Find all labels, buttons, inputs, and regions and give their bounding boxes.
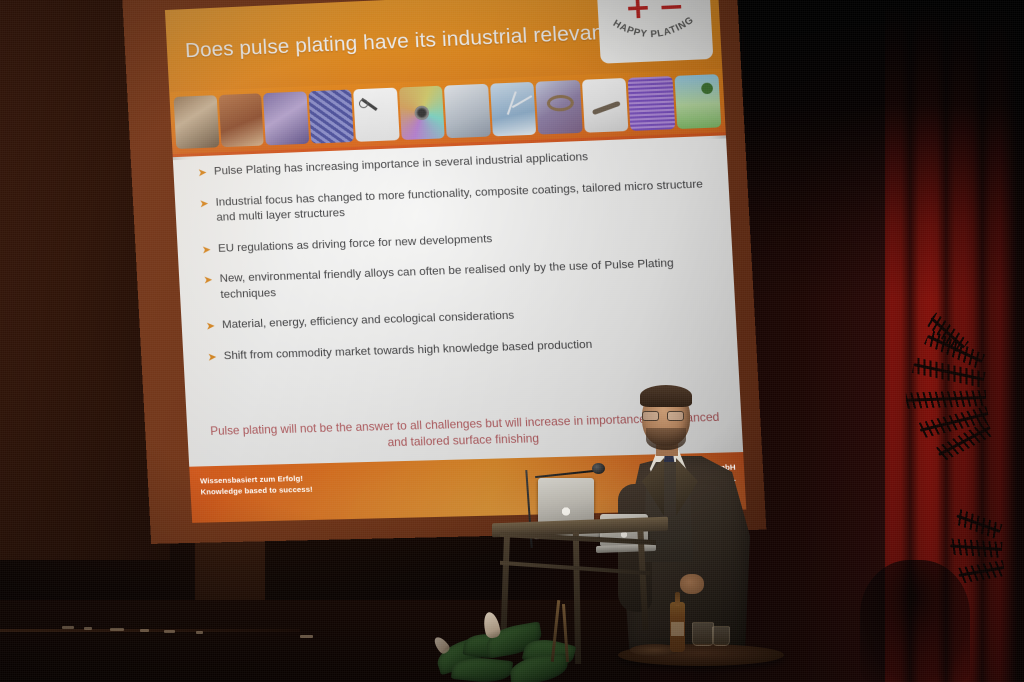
microphone-head-icon <box>592 463 605 474</box>
footer-slogan-en: Knowledge based to success! <box>200 484 313 498</box>
bottle-label <box>671 622 684 636</box>
electronics-board-thumb <box>263 91 309 145</box>
speaker-beard <box>646 428 686 450</box>
bullet-list: ➤ Pulse Plating has increasing importanc… <box>197 145 721 380</box>
bullet-item: ➤ Material, energy, efficiency and ecolo… <box>205 302 719 334</box>
auditorium-scene: Does pulse plating have its industrial r… <box>0 0 1024 682</box>
arrow-bullet-icon: ➤ <box>205 318 215 334</box>
industrial-machinery-thumb <box>174 95 219 149</box>
microchip-wafer-thumb <box>628 76 675 131</box>
svg-text:HAPPY PLATING: HAPPY PLATING <box>611 13 696 41</box>
bottle-neck <box>675 592 680 606</box>
optical-disc-thumb <box>398 86 444 140</box>
bullet-item: ➤ EU regulations as driving force for ne… <box>201 224 714 258</box>
side-table <box>618 598 784 682</box>
bullet-item: ➤ Industrial focus has changed to more f… <box>199 176 713 226</box>
stage-edge <box>0 629 300 632</box>
logo-wordmark-arc: HAPPY PLATING <box>602 12 708 57</box>
bullet-text: Industrial focus has changed to more fun… <box>215 176 713 226</box>
slide-title: Does pulse plating have its industrial r… <box>185 19 639 63</box>
peace-lily-plant <box>428 604 600 682</box>
logo-wordmark-text: HAPPY PLATING <box>611 13 696 41</box>
palm-plant <box>864 350 1024 640</box>
arrow-bullet-icon: ➤ <box>203 272 214 303</box>
drinking-glass[interactable] <box>692 622 714 646</box>
solar-panel-thumb <box>308 89 354 143</box>
nature-tree-thumb <box>674 74 721 129</box>
aerospace-component-thumb <box>444 84 490 138</box>
happy-plating-logo: + − HAPPY PLATING <box>596 0 713 64</box>
footer-slogan: Wissensbasiert zum Erfolg! Knowledge bas… <box>200 473 313 498</box>
arrow-bullet-icon: ➤ <box>199 195 210 226</box>
jewellery-watch-thumb <box>535 80 582 135</box>
bullet-text: New, environmental friendly alloys can o… <box>219 255 717 303</box>
wind-turbine-thumb <box>490 82 537 137</box>
bullet-item: ➤ New, environmental friendly alloys can… <box>203 255 717 304</box>
bullet-text: Material, energy, efficiency and ecologi… <box>222 309 515 334</box>
speaker-hair <box>640 385 692 407</box>
speaker-hand <box>680 574 704 594</box>
bullet-text: Pulse Plating has increasing importance … <box>214 150 589 180</box>
eyeglasses-icon <box>642 411 688 421</box>
apple-logo-icon <box>561 504 571 516</box>
medical-instrument-thumb <box>353 88 399 142</box>
bullet-text: Shift from commodity market towards high… <box>223 337 592 364</box>
plant-leaf <box>509 653 569 682</box>
drinking-glass[interactable] <box>712 626 730 646</box>
bullet-item: ➤ Shift from commodity market towards hi… <box>207 333 721 365</box>
bullet-text: EU regulations as driving force for new … <box>218 232 493 257</box>
arrow-bullet-icon: ➤ <box>197 165 207 181</box>
train-rail-thumb <box>218 93 264 147</box>
arrow-bullet-icon: ➤ <box>201 242 211 258</box>
arrow-bullet-icon: ➤ <box>207 349 217 365</box>
golf-club-thumb <box>581 78 628 133</box>
